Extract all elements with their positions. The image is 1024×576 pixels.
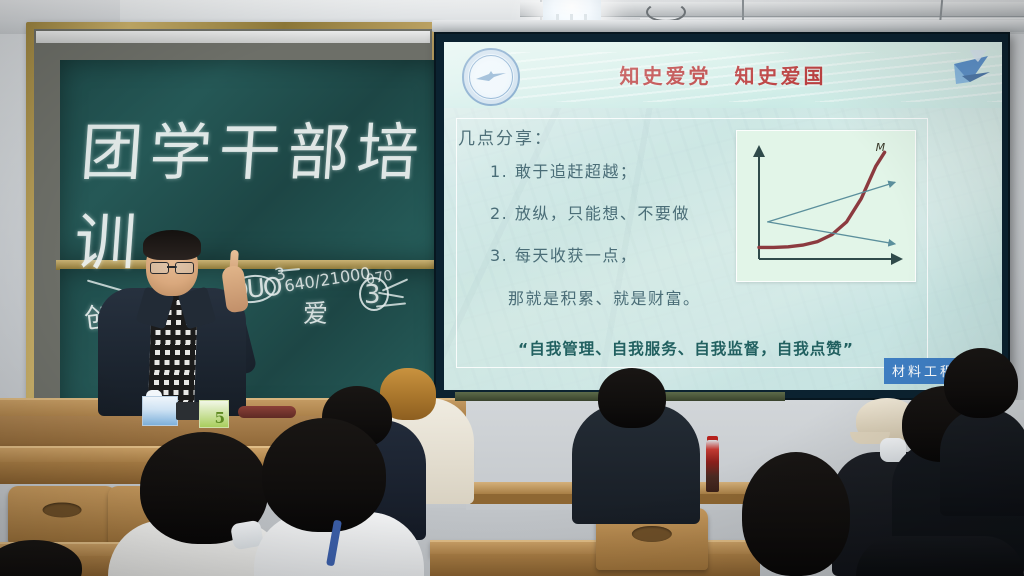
desk-row-right-face xyxy=(430,554,760,576)
student-far-right-head xyxy=(742,452,850,576)
slide-chart: M xyxy=(736,130,916,282)
chart-canvas xyxy=(737,131,915,281)
student-center-head xyxy=(598,368,666,428)
blackboard-heading: 团学干部培训 xyxy=(72,102,447,282)
red-cloth xyxy=(238,406,296,418)
slide-lead-text: 几点分享： xyxy=(458,124,553,149)
tissue-box xyxy=(142,396,178,426)
green-package-label: 5 xyxy=(215,409,225,427)
ceiling-hanger xyxy=(742,0,744,22)
lecturer-hair xyxy=(143,230,201,260)
blackboard-note-love: 爱 xyxy=(303,294,328,330)
student-front-left-2-head xyxy=(262,418,386,532)
remote-device xyxy=(176,402,200,420)
projection-screen-roller xyxy=(432,20,1024,32)
student-right-2-top xyxy=(940,408,1024,516)
student-far-right-top xyxy=(856,536,1024,576)
green-package: 5 xyxy=(199,400,229,428)
cola-bottle xyxy=(706,440,719,492)
student-right-2-head xyxy=(944,348,1018,418)
presentation-slide: 知史爱党 知史爱国 几点分享： 1. 敢于追赶超越； 2. 放纵，只能想、不要做… xyxy=(444,42,1002,390)
classroom-scene: 团学干部培训 创新 OUO 640/21000 爱 070 3 3 知史爱党 知… xyxy=(0,0,1024,576)
ceiling-cable xyxy=(646,2,686,22)
slide-bullet-3-cont: 那就是积累、就是财富。 xyxy=(508,287,790,310)
chart-annotation-m: M xyxy=(876,141,886,154)
glasses-icon xyxy=(150,262,194,272)
chalk-oval xyxy=(359,277,389,311)
slide-quote: “自我管理、自我服务、自我监督，自我点赞” xyxy=(476,337,896,359)
chair[interactable] xyxy=(8,486,116,544)
blackboard-top-strip xyxy=(36,31,430,43)
